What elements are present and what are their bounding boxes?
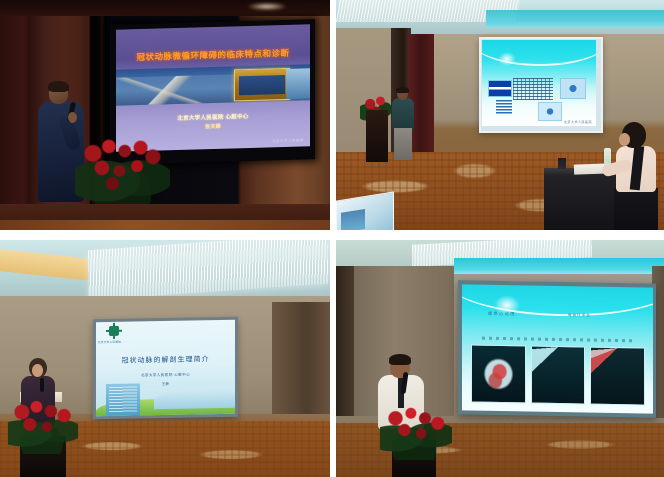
banner-skyline [286,68,310,99]
flower-arrangement [8,396,78,454]
slide-title: 冠状动脉的解剖生理简介 [96,354,235,366]
photo-panel-top-left: 冠状动脉微循环障碍的临床特点和诊断 北京大学人民医院 心脏中心 张天娜 北京大学… [0,0,330,230]
slide-building-photo [106,383,140,416]
floor-strip [0,220,330,230]
ceiling-light [248,3,286,10]
medical-cross-icon [109,326,119,336]
slide-banner-image [116,64,310,105]
flower-blooms [79,136,167,194]
slide-road-graphic [154,390,235,409]
flower-arrangement [380,402,452,460]
slide-header-note: 微循环评估 [568,312,591,317]
speaker-hair [48,81,69,92]
speaker-hair [396,87,409,93]
echo-image-1 [471,344,526,403]
echo-image-row [471,344,645,405]
speaker-face [32,364,43,377]
flower-arrangement [75,130,170,210]
slide-microscopy-image-1 [560,78,586,99]
speaker-trousers [394,128,412,160]
presentation-slide-3: 北京大学人民医院 冠状动脉的解剖生理简介 北京大学人民医院 心脏中心 王静 [96,320,235,416]
flower-blooms [10,398,76,442]
dark-wall-edge [336,266,354,416]
slide-subtitle-org: 北京大学人民医院 心脏中心 [96,372,235,379]
slide-title: 冠状动脉微循环障碍的临床特点和诊断 [124,47,302,64]
lectern [366,110,388,162]
banner-gold-frame [234,68,290,102]
slide-text-block-overlay [513,78,553,100]
seated-woman [610,122,662,230]
slide-footer-logo: 北京大学人民医院 [272,137,304,143]
speaker-hand [68,112,77,123]
slide-text-line [482,337,632,343]
photo-panel-bottom-right: 超声心动图 微循环评估 [336,240,664,477]
cove-light-cyan [454,258,664,274]
photo-collage: 冠状动脉微循环障碍的临床特点和诊断 北京大学人民医院 心脏中心 张天娜 北京大学… [0,0,664,477]
dark-wall-section [272,302,330,414]
ceiling-cove-light [486,10,664,28]
slide-header: 超声心动图 [488,311,516,317]
slide-glow [498,52,516,66]
echo-image-3 [590,347,645,406]
seated-woman-lower [614,188,658,230]
conference-photo-4: 超声心动图 微循环评估 [336,240,664,477]
slide-small-chart [496,100,512,114]
microphone-icon [40,378,44,392]
slide-footer-logo: 北京大学人民医院 [564,120,592,124]
conference-photo-3: 北京大学人民医院 冠状动脉的解剖生理简介 北京大学人民医院 心脏中心 王静 [0,240,330,477]
speaker-hair [389,354,411,365]
speaker-torso [392,98,414,130]
photo-panel-top-right: 北京大学人民医院 [336,0,664,230]
photo-panel-bottom-left: 北京大学人民医院 冠状动脉的解剖生理简介 北京大学人民医院 心脏中心 王静 [0,240,330,477]
conference-photo-2: 北京大学人民医院 [336,0,664,230]
speaker-standing [392,88,414,160]
seated-woman-face [619,133,630,146]
conference-photo-1: 冠状动脉微循环障碍的临床特点和诊断 北京大学人民医院 心脏中心 张天娜 北京大学… [0,0,330,230]
flower-blooms [384,404,448,446]
presentation-slide-2: 北京大学人民医院 [482,40,596,126]
echo-image-2 [531,346,586,405]
cup [558,158,566,169]
slide-microscopy-image-2 [538,102,562,121]
slide-diagram-image [488,80,512,97]
slide-logo-text: 北京大学人民医院 [98,340,132,345]
presentation-slide-4: 超声心动图 微循环评估 [462,284,653,413]
